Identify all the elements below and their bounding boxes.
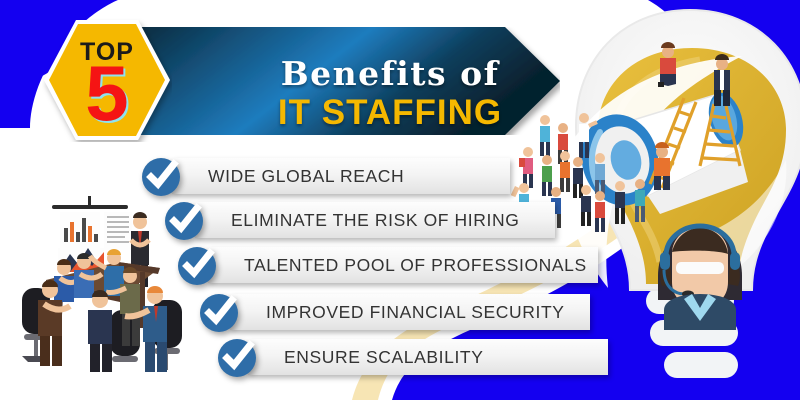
- benefit-bar: ELIMINATE THE RISK OF HIRING: [195, 202, 555, 238]
- check-circle-icon[interactable]: [216, 335, 260, 379]
- benefits-list: WIDE GLOBAL REACHELIMINATE THE RISK OF H…: [0, 0, 800, 400]
- benefit-label: WIDE GLOBAL REACH: [172, 166, 404, 187]
- benefit-label: ENSURE SCALABILITY: [248, 347, 483, 368]
- check-circle-icon[interactable]: [163, 198, 207, 242]
- benefit-bar: TALENTED POOL OF PROFESSIONALS: [208, 247, 598, 283]
- benefit-bar: ENSURE SCALABILITY: [248, 339, 608, 375]
- benefit-label: ELIMINATE THE RISK OF HIRING: [195, 210, 519, 231]
- benefit-label: IMPROVED FINANCIAL SECURITY: [230, 302, 565, 323]
- check-circle-icon[interactable]: [140, 154, 184, 198]
- infographic-canvas: Benefits of IT STAFFING TOP 5 WIDE GLOBA…: [0, 0, 800, 400]
- check-circle-icon[interactable]: [176, 243, 220, 287]
- check-circle-icon[interactable]: [198, 290, 242, 334]
- benefit-bar: WIDE GLOBAL REACH: [172, 158, 510, 194]
- benefit-label: TALENTED POOL OF PROFESSIONALS: [208, 255, 587, 276]
- benefit-bar: IMPROVED FINANCIAL SECURITY: [230, 294, 590, 330]
